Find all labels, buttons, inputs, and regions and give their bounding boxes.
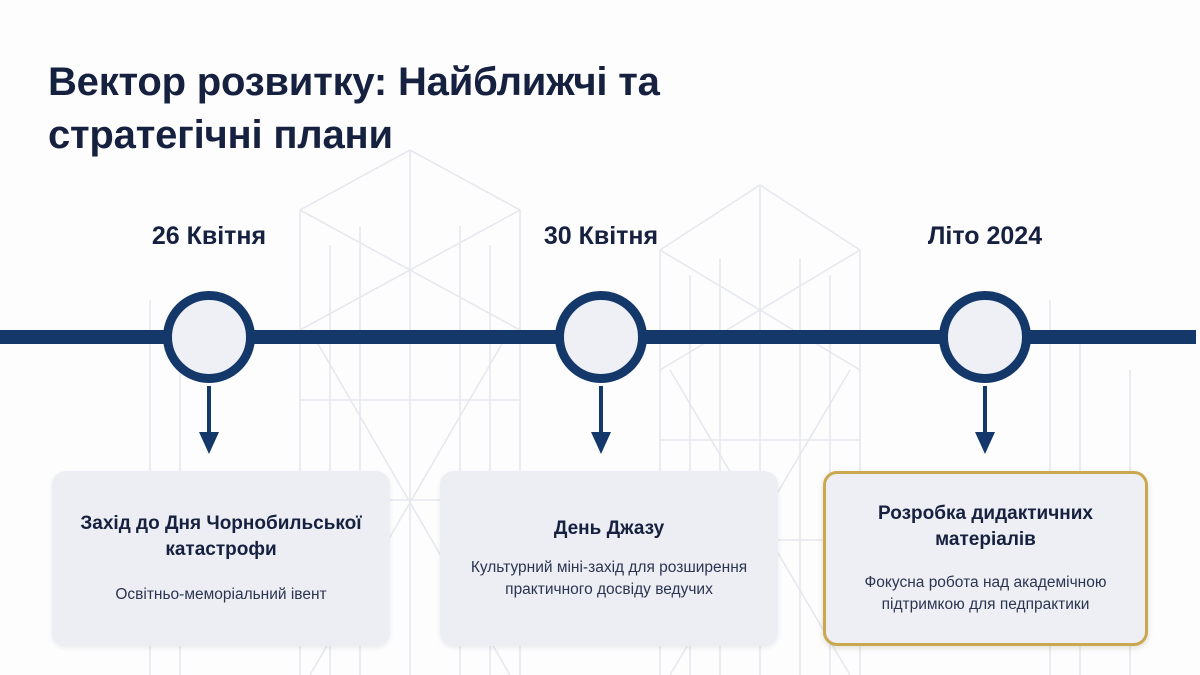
milestone-date-1: 26 Квітня [59,222,359,251]
timeline-node-1 [163,291,255,383]
timeline-slide: Вектор розвитку: Найближчі та стратегічн… [0,0,1200,675]
milestone-card-2[interactable]: День Джазу Культурний міні-захід для роз… [440,471,778,646]
arrow-stem [983,386,987,436]
timeline-node-3 [939,291,1031,383]
milestone-card-subtitle: Фокусна робота над академічною підтримко… [844,572,1127,616]
timeline-node-2 [555,291,647,383]
arrow-head [199,432,219,454]
arrow-head [591,432,611,454]
milestone-card-title: Захід до Дня Чорнобильської катастрофи [70,511,372,562]
arrow-stem [599,386,603,436]
milestone-card-subtitle: Освітньо-меморіальний івент [115,584,326,606]
milestone-card-title: Розробка дидактичних матеріалів [844,501,1127,552]
down-arrow-icon-2 [588,386,614,458]
page-title-line-1: Вектор розвитку: Найближчі та [48,56,928,109]
milestone-date-2: 30 Квітня [451,222,751,251]
milestone-card-3[interactable]: Розробка дидактичних матеріалів Фокусна … [823,471,1148,646]
down-arrow-icon-1 [196,386,222,458]
milestone-card-title: День Джазу [554,516,664,541]
down-arrow-icon-3 [972,386,998,458]
milestone-date-3: Літо 2024 [835,222,1135,251]
milestone-card-subtitle: Культурний міні-захід для розширення пра… [458,557,760,601]
page-title: Вектор розвитку: Найближчі та стратегічн… [48,56,928,162]
milestone-card-1[interactable]: Захід до Дня Чорнобильської катастрофи О… [52,471,390,646]
arrow-head [975,432,995,454]
page-title-line-2: стратегічні плани [48,109,928,162]
arrow-stem [207,386,211,436]
